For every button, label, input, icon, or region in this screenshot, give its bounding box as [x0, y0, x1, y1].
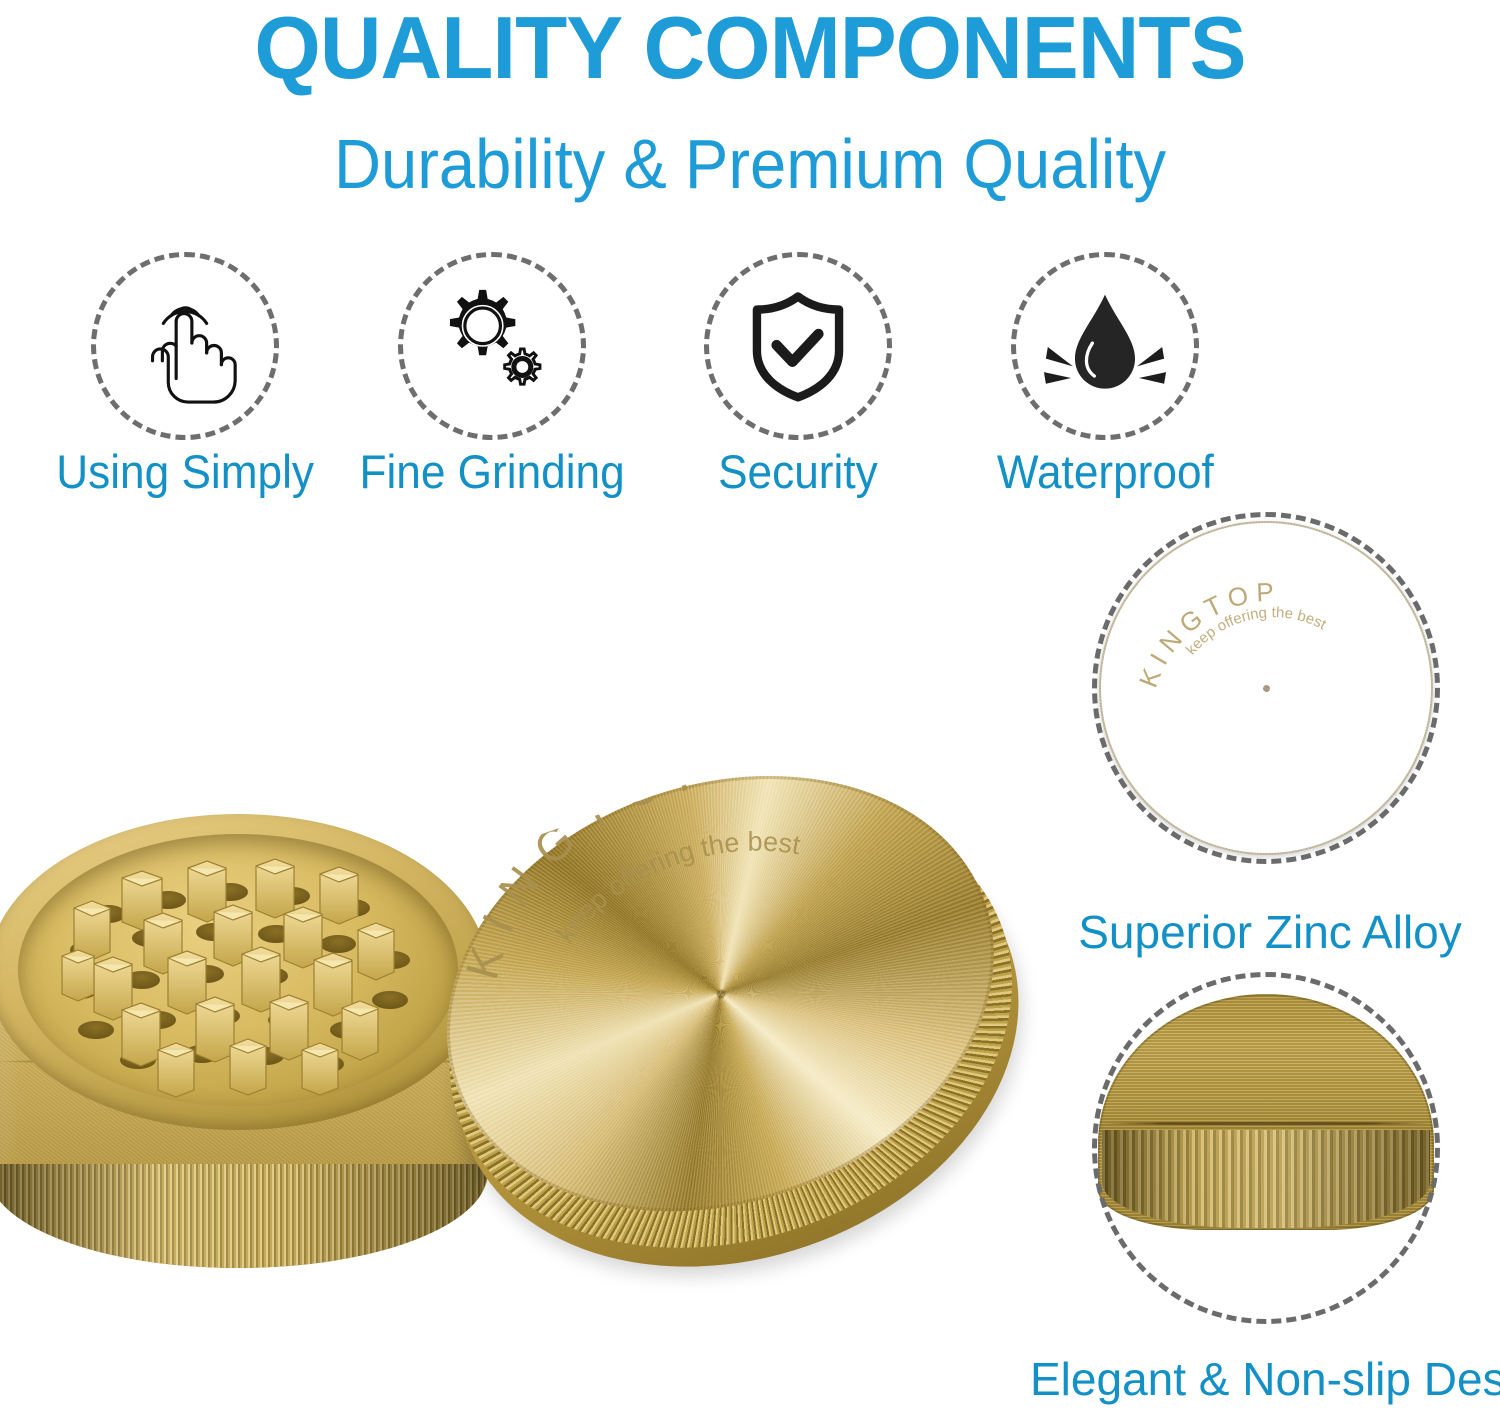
feature-label: Using Simply: [56, 444, 314, 499]
feature-label: Security: [719, 444, 879, 499]
detail-superior-zinc-alloy: KINGTOP keep offering the best: [1092, 512, 1440, 864]
tap-hand-icon: [91, 252, 279, 440]
icon-container: [704, 252, 892, 440]
detail-caption: Elegant & Non-slip Design: [1030, 1352, 1500, 1406]
feature-fine-grinding: Fine Grinding: [367, 252, 617, 502]
infographic-canvas: QUALITY COMPONENTS Durability & Premium …: [0, 0, 1500, 1412]
icon-container: [398, 252, 586, 440]
gears-icon: [398, 252, 586, 440]
base-knurled-rim: [0, 1164, 486, 1268]
page-subtitle: Durability & Premium Quality: [53, 124, 1448, 204]
feature-security: Security: [673, 252, 923, 502]
icon-container: [1011, 252, 1199, 440]
dashed-circle-icon: [1092, 972, 1440, 1324]
icon-container: [91, 252, 279, 440]
feature-label: Waterproof: [997, 444, 1214, 499]
feature-label: Fine Grinding: [359, 444, 624, 499]
feature-row: Using Simply: [60, 252, 1230, 502]
water-drop-icon: [1011, 252, 1199, 440]
product-photo: KINGTOP keep offering the best: [0, 760, 1060, 1380]
detail-caption: Superior Zinc Alloy: [1045, 905, 1495, 959]
page-title: QUALITY COMPONENTS: [23, 2, 1478, 94]
feature-waterproof: Waterproof: [980, 252, 1230, 502]
shield-check-icon: [704, 252, 892, 440]
detail-non-slip-design: [1092, 972, 1440, 1324]
dashed-circle-icon: [1092, 512, 1440, 864]
svg-text:KINGTOP: KINGTOP: [410, 734, 771, 998]
feature-using-simply: Using Simply: [60, 252, 310, 502]
